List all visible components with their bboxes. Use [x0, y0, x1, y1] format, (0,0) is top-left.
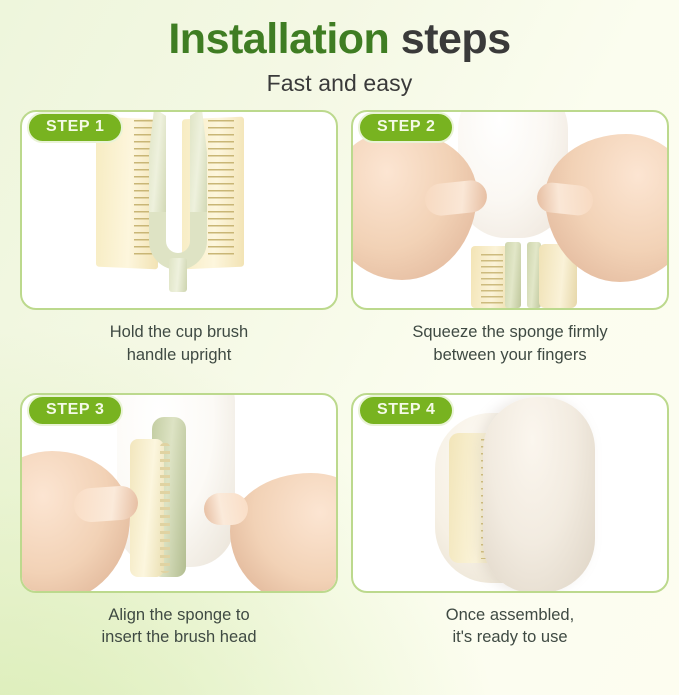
step-4-image-frame: STEP 4: [351, 393, 669, 593]
step-1-image-frame: STEP 1: [20, 110, 338, 310]
bristles-right-icon: [208, 120, 234, 256]
page-subtitle: Fast and easy: [0, 70, 679, 97]
step-1-caption-line-1: Hold the cup brush: [20, 321, 338, 344]
step-4-badge: STEP 4: [358, 395, 454, 426]
step-2-badge: STEP 2: [358, 112, 454, 143]
step-2-caption-line-2: between your fingers: [351, 344, 669, 367]
step-card-3: STEP 3 Align the sponge to insert the br…: [20, 393, 338, 650]
title-suffix: steps: [401, 15, 511, 63]
step-3-badge: STEP 3: [27, 395, 123, 426]
page-header: Installation steps Fast and easy: [0, 0, 679, 97]
fork-stem-icon: [169, 258, 187, 292]
left-hand-icon: [20, 451, 130, 593]
page-title: Installation steps: [0, 18, 679, 61]
step-1-caption-line-2: handle upright: [20, 344, 338, 367]
step-2-caption: Squeeze the sponge firmly between your f…: [351, 321, 669, 367]
step-2-image-frame: STEP 2: [351, 110, 669, 310]
left-finger-icon: [73, 484, 139, 522]
step-4-caption-line-2: it's ready to use: [351, 626, 669, 649]
sponge-front-shell-icon: [483, 397, 595, 593]
green-prong-a-icon: [505, 242, 521, 308]
right-finger-icon: [204, 493, 248, 525]
step-2-caption-line-1: Squeeze the sponge firmly: [351, 321, 669, 344]
step-4-caption-line-1: Once assembled,: [351, 604, 669, 627]
brush-bristles-icon: [481, 254, 503, 304]
step-3-caption-line-1: Align the sponge to: [20, 604, 338, 627]
step-3-caption: Align the sponge to insert the brush hea…: [20, 604, 338, 650]
step-1-badge: STEP 1: [27, 112, 123, 143]
step-3-caption-line-2: insert the brush head: [20, 626, 338, 649]
steps-grid: STEP 1 Hold the cup brush handle upright…: [20, 110, 659, 649]
step-4-caption: Once assembled, it's ready to use: [351, 604, 669, 650]
step-card-1: STEP 1 Hold the cup brush handle upright: [20, 110, 338, 367]
step-card-4: STEP 4 Once assembled, it's ready to use: [351, 393, 669, 650]
step-card-2: STEP 2 Squeeze the sponge firmly between…: [351, 110, 669, 367]
u-fork-handle-icon: [147, 110, 209, 283]
right-hand-icon: [230, 473, 338, 593]
step-1-caption: Hold the cup brush handle upright: [20, 321, 338, 367]
step-3-image-frame: STEP 3: [20, 393, 338, 593]
title-highlight: Installation: [168, 15, 389, 63]
sponge-scallop-edge-icon: [160, 443, 170, 573]
